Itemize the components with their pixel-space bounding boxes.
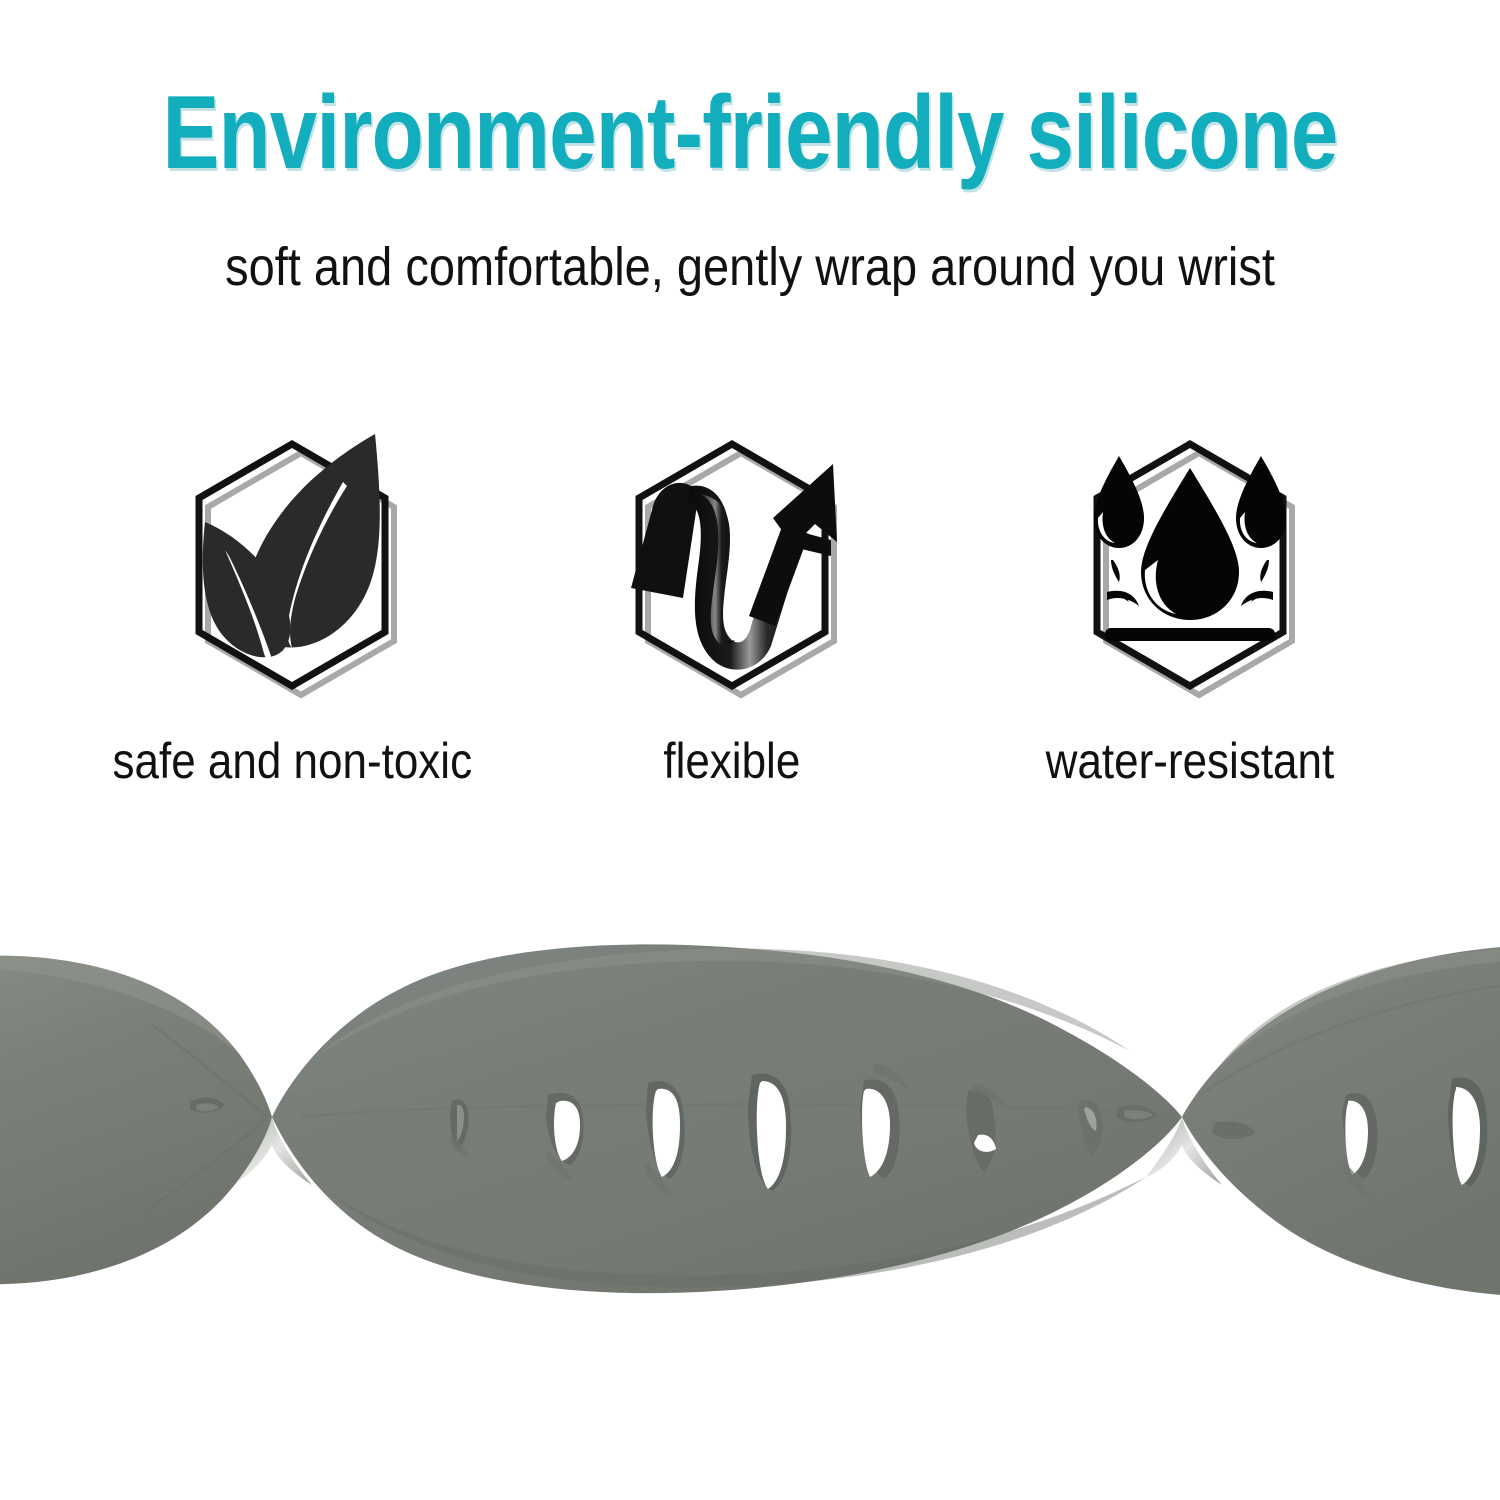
water-droplets-hexagon-icon <box>1045 420 1335 710</box>
leaf-hexagon-icon <box>147 420 437 710</box>
feature-item-water-resistant: water-resistant <box>990 420 1390 790</box>
feature-label-safe-non-toxic: safe and non-toxic <box>112 732 472 790</box>
feature-list: safe and non-toxic <box>110 420 1390 820</box>
band-segment-center <box>272 944 1182 1293</box>
feature-label-water-resistant: water-resistant <box>1046 732 1335 790</box>
band-segment-left <box>0 956 272 1285</box>
page-subtitle: soft and comfortable, gently wrap around… <box>98 236 1403 298</box>
twisted-arrow-hexagon-icon <box>587 420 877 710</box>
page-title: Environment-friendly silicone <box>135 78 1365 188</box>
feature-label-flexible: flexible <box>664 732 801 790</box>
feature-item-flexible: flexible <box>532 420 932 790</box>
band-segment-right <box>1182 945 1500 1297</box>
feature-item-safe-non-toxic: safe and non-toxic <box>92 420 492 790</box>
product-feature-graphic: Environment-friendly silicone soft and c… <box>0 0 1500 1500</box>
product-image-twisted-band <box>0 905 1500 1375</box>
